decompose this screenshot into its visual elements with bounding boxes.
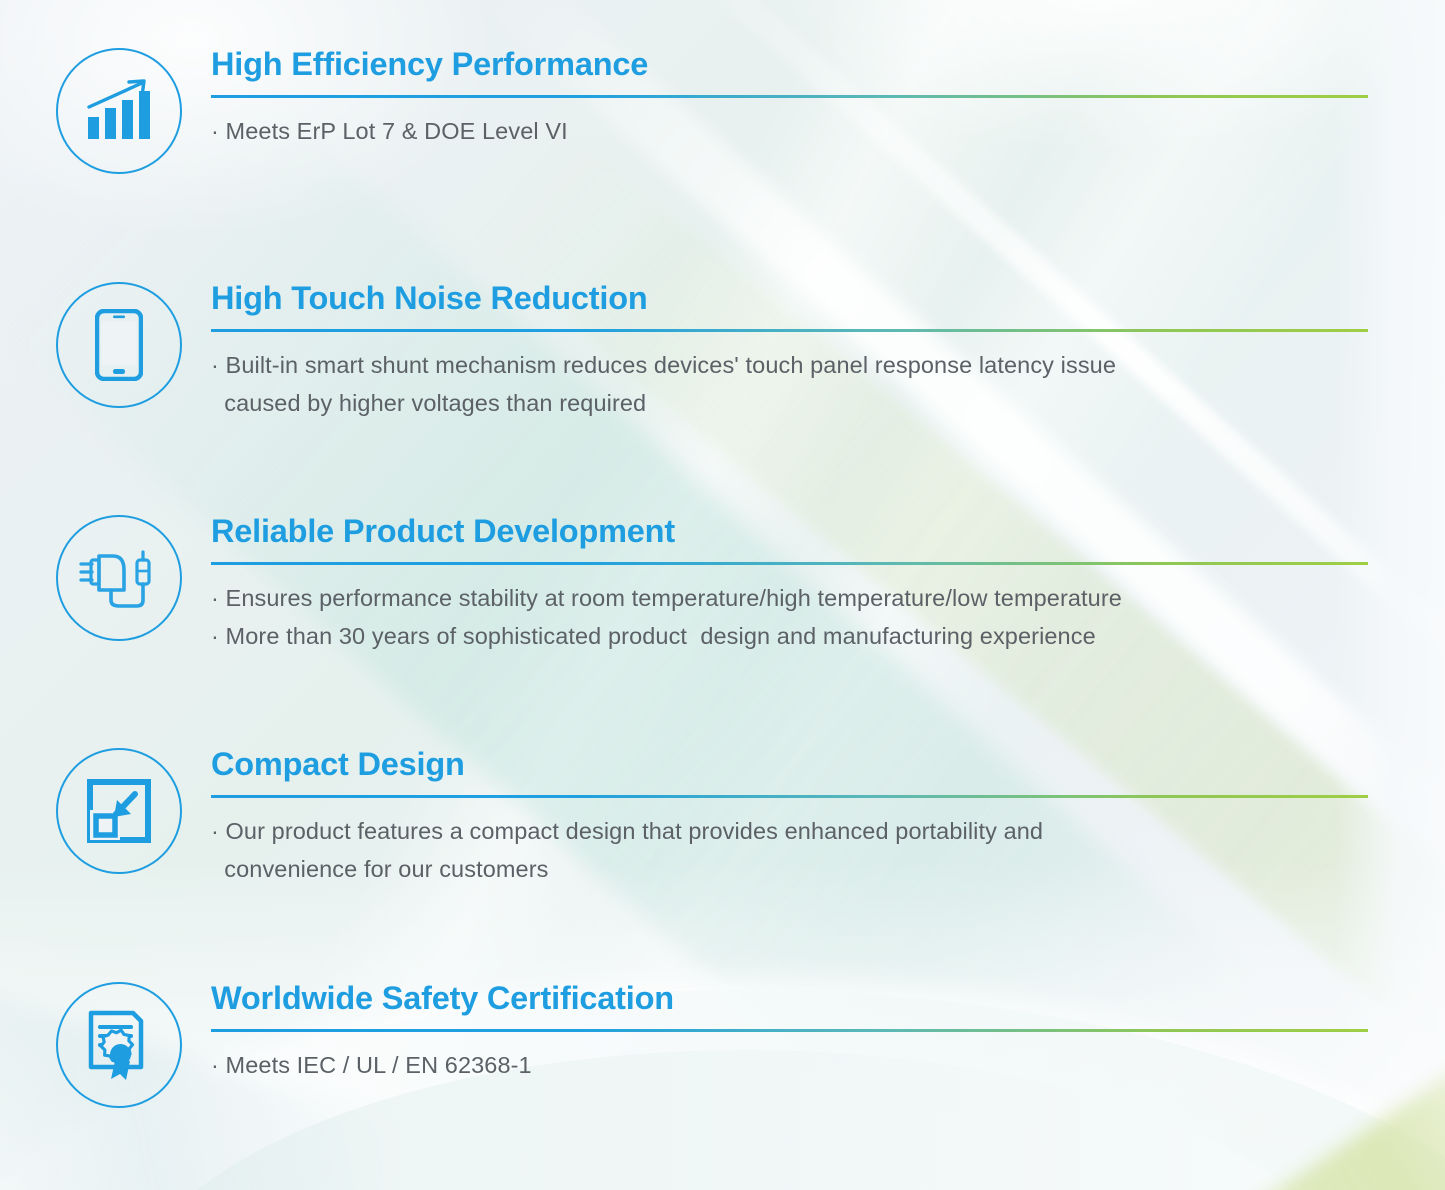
feature-description: · Meets IEC / UL / EN 62368-1 xyxy=(211,1046,1368,1084)
feature-description: · Our product features a compact design … xyxy=(211,812,1368,888)
feature-body: Worldwide Safety Certification · Meets I… xyxy=(211,982,1368,1084)
feature-icon-circle xyxy=(56,48,182,174)
feature-body: Reliable Product Development · Ensures p… xyxy=(211,515,1368,655)
feature-title: Worldwide Safety Certification xyxy=(211,982,1368,1015)
power-adapter-icon xyxy=(79,544,159,612)
background-corner-green-band-thin xyxy=(1145,1140,1445,1190)
smartphone-icon xyxy=(95,309,143,381)
feature-description-line: convenience for our customers xyxy=(211,850,1368,888)
feature-divider xyxy=(211,95,1368,98)
feature-icon-circle xyxy=(56,748,182,874)
resize-shrink-icon xyxy=(86,778,152,844)
feature-divider xyxy=(211,795,1368,798)
feature-description-line: · Meets IEC / UL / EN 62368-1 xyxy=(211,1046,1368,1084)
feature-title: High Touch Noise Reduction xyxy=(211,282,1368,315)
feature-description: · Built-in smart shunt mechanism reduces… xyxy=(211,346,1368,422)
feature-description: · Ensures performance stability at room … xyxy=(211,579,1368,655)
feature-description: · Meets ErP Lot 7 & DOE Level VI xyxy=(211,112,1368,150)
bar-chart-growth-icon xyxy=(84,79,154,143)
feature-divider xyxy=(211,1029,1368,1032)
feature-description-line: · Ensures performance stability at room … xyxy=(211,579,1368,617)
feature-title: High Efficiency Performance xyxy=(211,48,1368,81)
feature-divider xyxy=(211,329,1368,332)
feature-body: High Touch Noise Reduction · Built-in sm… xyxy=(211,282,1368,422)
feature-icon-circle xyxy=(56,282,182,408)
feature-description-line: · Built-in smart shunt mechanism reduces… xyxy=(211,346,1368,384)
feature-title: Reliable Product Development xyxy=(211,515,1368,548)
feature-title: Compact Design xyxy=(211,748,1368,781)
certificate-award-icon xyxy=(85,1009,153,1081)
feature-body: High Efficiency Performance · Meets ErP … xyxy=(211,48,1368,150)
feature-highlights-page: High Efficiency Performance · Meets ErP … xyxy=(0,0,1445,1190)
feature-description-line: · Our product features a compact design … xyxy=(211,812,1368,850)
feature-description-line: · More than 30 years of sophisticated pr… xyxy=(211,617,1368,655)
feature-icon-circle xyxy=(56,515,182,641)
feature-divider xyxy=(211,562,1368,565)
feature-description-line: caused by higher voltages than required xyxy=(211,384,1368,422)
feature-description-line: · Meets ErP Lot 7 & DOE Level VI xyxy=(211,112,1368,150)
feature-body: Compact Design · Our product features a … xyxy=(211,748,1368,888)
feature-icon-circle xyxy=(56,982,182,1108)
